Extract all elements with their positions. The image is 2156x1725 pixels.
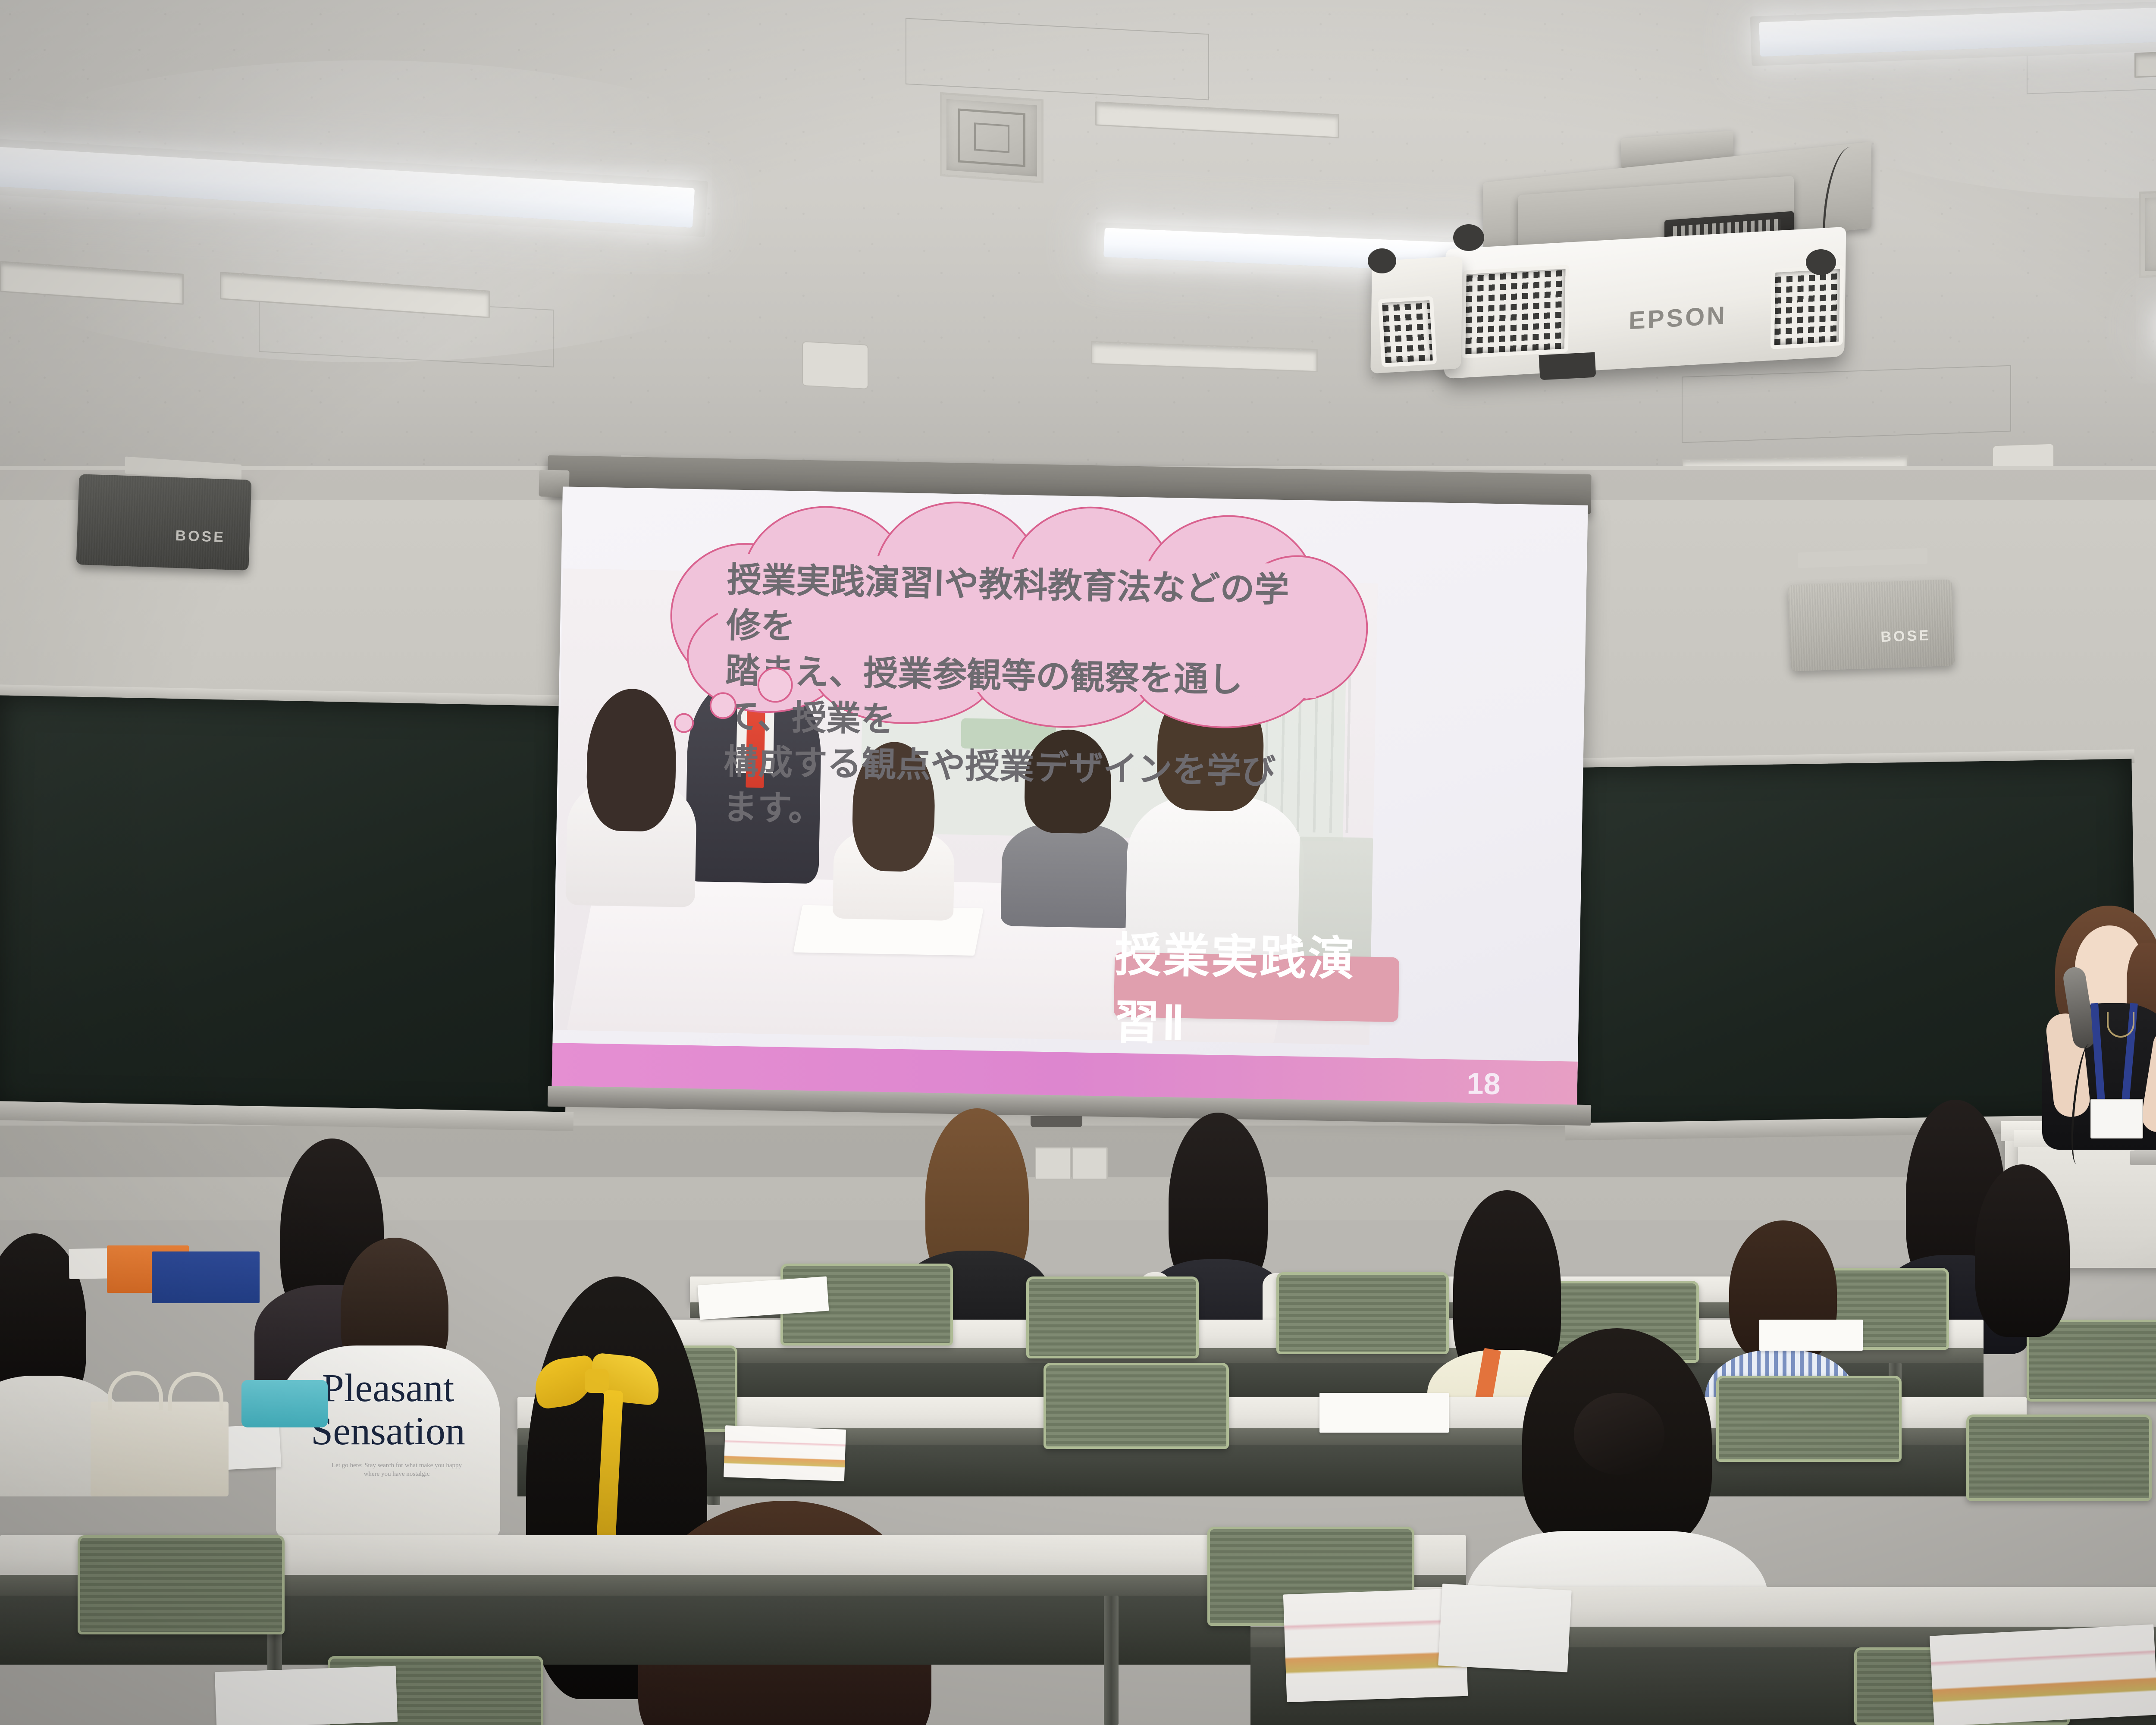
handout-papers — [1759, 1320, 1863, 1351]
projector-foot — [1806, 249, 1836, 275]
projector-epson: EPSON — [1444, 227, 1846, 379]
slide-page-number: 18 — [1467, 1066, 1501, 1101]
photo-student3-top — [1001, 822, 1136, 928]
projector-foot — [1453, 224, 1484, 251]
bose-logo-left: BOSE — [175, 527, 226, 546]
projector-vent-grille-right — [1771, 265, 1844, 349]
handout-papers — [215, 1666, 398, 1725]
presenter-name-badge — [2090, 1099, 2143, 1138]
wall-speaker-right: BOSE — [1788, 579, 1955, 671]
speaker-grille — [76, 474, 251, 571]
ceiling-sensor — [802, 341, 868, 389]
ribbon-knot — [585, 1369, 609, 1393]
thought-bubble-text: 授業実践演習Ⅰや教科教育法などの学修を 踏まえ、授業参観等の観察を通して、授業を… — [722, 557, 1300, 841]
slide-canvas: 授業実践演習Ⅰや教科教育法などの学修を 踏まえ、授業参観等の観察を通して、授業を… — [552, 486, 1588, 1109]
projector-foot — [1368, 248, 1396, 273]
presenter — [2018, 906, 2156, 1147]
chair — [1044, 1363, 1229, 1449]
projection-screen: 授業実践演習Ⅰや教科教育法などの学修を 踏まえ、授業参観等の観察を通して、授業を… — [552, 486, 1588, 1109]
photo-student1-hair — [586, 688, 677, 832]
ceiling-tile — [1682, 365, 2011, 443]
wall-outlet-plate — [1072, 1147, 1108, 1180]
handout-papers — [1438, 1584, 1572, 1672]
audience-hair-long-black — [1975, 1164, 2070, 1337]
audience-member — [2147, 1285, 2156, 1509]
chair — [78, 1535, 285, 1634]
laptop-base — [2130, 1151, 2156, 1165]
chair-back — [1966, 1414, 2152, 1501]
slide-title-badge: 授業実践演習Ⅱ — [1114, 952, 1400, 1022]
brochure — [724, 1425, 846, 1481]
yellow-hair-ribbon — [535, 1354, 664, 1423]
chair-back — [1044, 1363, 1229, 1449]
chair — [1026, 1276, 1199, 1358]
blue-box — [152, 1251, 260, 1303]
desk-leg — [1104, 1596, 1119, 1725]
hvac-vent — [940, 92, 1044, 184]
projector-lens-hood — [1539, 352, 1596, 380]
projector-side-grille — [1378, 296, 1437, 367]
lecture-hall-photo: BOSE BOSE EPSON — [0, 0, 2156, 1725]
brochure — [1930, 1625, 2156, 1725]
audience-member — [1940, 1164, 2104, 1389]
tote-bag — [91, 1402, 229, 1496]
handout-papers — [1319, 1393, 1449, 1433]
bose-logo-right: BOSE — [1880, 627, 1931, 646]
tote-bag-handle — [168, 1372, 223, 1411]
chalkboard-left — [0, 695, 573, 1120]
projector-vent-grille-left — [1461, 265, 1569, 358]
hvac-vent — [2139, 188, 2156, 278]
chair-back — [1026, 1276, 1199, 1358]
chair — [1966, 1414, 2152, 1501]
speaker-grille — [1788, 579, 1955, 671]
tshirt-subtext: Let go here: Stay search for what make y… — [328, 1461, 466, 1479]
wall-speaker-left: BOSE — [76, 474, 251, 571]
pencil-case — [241, 1380, 328, 1427]
projector-brand-label: EPSON — [1629, 301, 1727, 335]
audience-hair-bun-knot — [1574, 1393, 1664, 1475]
tshirt-line-1: Pleasant — [310, 1367, 466, 1409]
chair-back — [78, 1535, 285, 1634]
